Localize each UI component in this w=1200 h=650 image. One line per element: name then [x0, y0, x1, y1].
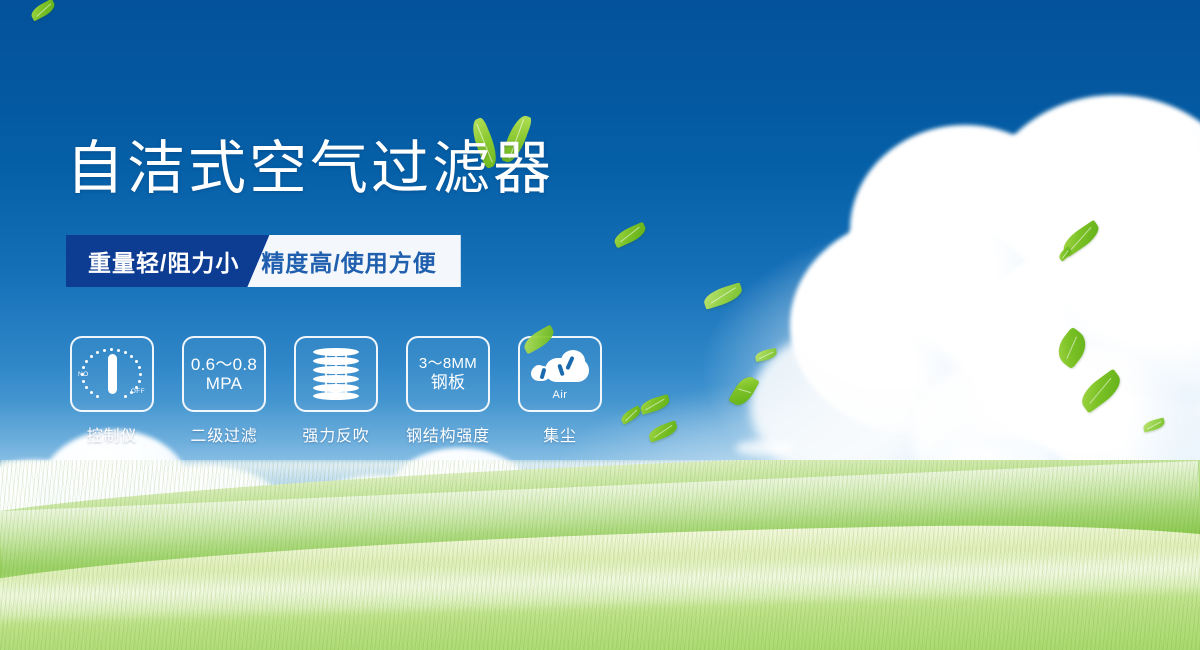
steel-value-line1: 3〜8MM [419, 356, 477, 373]
subtitle-bar: 重量轻/阻力小 精度高/使用方便 [66, 235, 461, 287]
subtitle-right: 精度高/使用方便 [247, 235, 460, 287]
feature-list: NO OFF 控制仪 0.6〜0.8 MPA 二级过滤 [68, 336, 604, 446]
feature-caption: 二级过滤 [190, 422, 257, 446]
steel-value-line2: 钢板 [431, 373, 466, 392]
cloud-wisp [735, 440, 795, 456]
feature-icon-box: 3〜8MM 钢板 [406, 336, 490, 412]
gauge-needle [108, 354, 117, 394]
cloud-dust-icon [531, 348, 589, 388]
filter-stack-icon [313, 348, 359, 400]
feature-icon-box: 0.6〜0.8 MPA [182, 336, 266, 412]
floating-leaf [1142, 417, 1166, 432]
pressure-value-line1: 0.6〜0.8 [191, 355, 257, 374]
floating-leaf [754, 348, 778, 362]
feature-caption: 集尘 [543, 422, 577, 446]
feature-item-backblow[interactable]: 强力反吹 [292, 336, 380, 446]
cloud-wisp [980, 300, 1070, 322]
floating-leaf [1059, 220, 1103, 258]
floating-leaf [647, 420, 680, 442]
floating-leaf [702, 282, 745, 310]
feature-item-controller[interactable]: NO OFF 控制仪 [68, 336, 156, 446]
feature-icon-box [294, 336, 378, 412]
floating-leaf [619, 405, 643, 425]
grass-field [0, 460, 1200, 650]
floating-leaf [639, 394, 671, 415]
gauge-label-off: OFF [131, 388, 145, 395]
floating-leaf [29, 0, 58, 21]
floating-leaf [728, 373, 760, 410]
floating-leaf [1057, 246, 1073, 261]
feature-caption: 控制仪 [87, 422, 137, 446]
feature-item-steel-strength[interactable]: 3〜8MM 钢板 钢结构强度 [404, 336, 492, 446]
feature-icon-box: NO OFF [70, 336, 154, 412]
feature-item-secondary-filter[interactable]: 0.6〜0.8 MPA 二级过滤 [180, 336, 268, 446]
feature-icon-box: Air [518, 336, 602, 412]
subtitle-left: 重量轻/阻力小 [66, 235, 269, 287]
feature-caption: 钢结构强度 [406, 422, 490, 446]
floating-leaf [1051, 327, 1092, 370]
gauge-label-on: NO [78, 371, 89, 378]
air-label: Air [553, 389, 568, 401]
feature-item-dust-collection[interactable]: Air 集尘 [516, 336, 604, 446]
gauge-icon: NO OFF [79, 345, 145, 403]
feature-caption: 强力反吹 [302, 422, 369, 446]
floating-leaf [612, 222, 649, 249]
pressure-value-line2: MPA [206, 374, 242, 393]
page-title: 自洁式空气过滤器 [66, 140, 554, 198]
floating-leaf [1076, 369, 1126, 414]
product-banner: 自洁式空气过滤器 重量轻/阻力小 精度高/使用方便 [0, 0, 1200, 650]
